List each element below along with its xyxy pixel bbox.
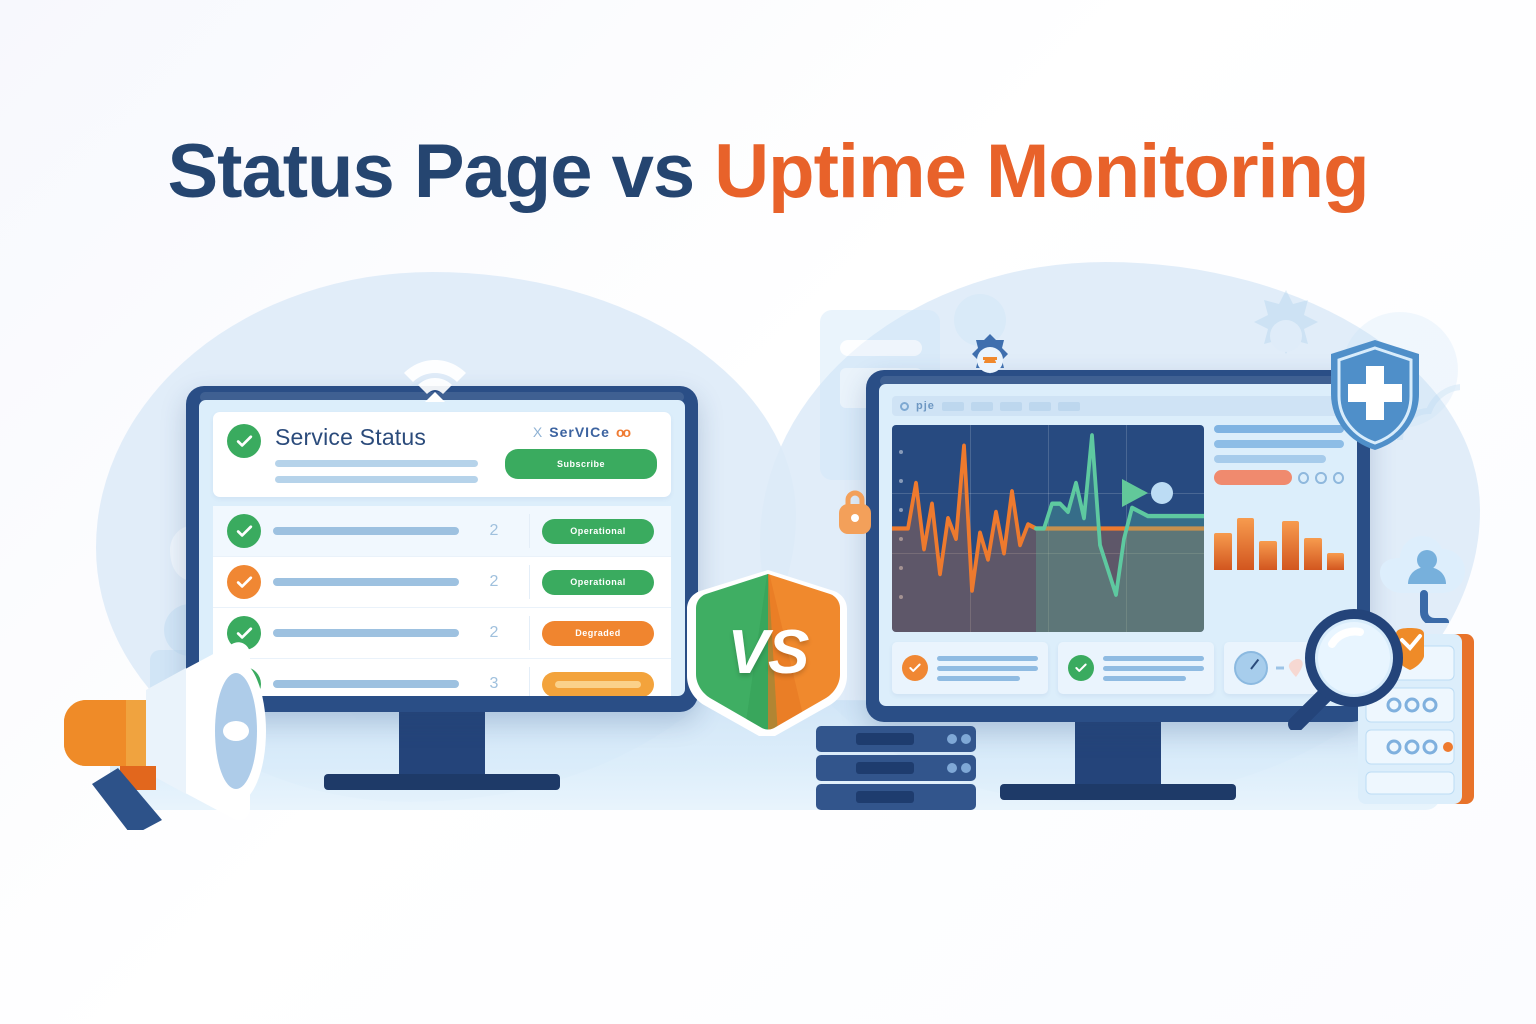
row-count: 2 (471, 624, 517, 642)
status-badge (542, 672, 654, 697)
circle-outline-icon (900, 402, 909, 411)
check-circle-green-icon (227, 514, 261, 548)
shield-cross-icon (1320, 336, 1430, 454)
uptime-line-chart (892, 425, 1204, 632)
brand-x: X (533, 424, 543, 440)
toolbar-segment (942, 402, 964, 411)
row-count: 2 (471, 573, 517, 591)
brand-text: SerVICe (549, 424, 610, 440)
check-circle-orange-icon (227, 565, 261, 599)
lock-icon (838, 490, 872, 536)
gauge-icon (1234, 651, 1268, 685)
monitor-base-left (324, 774, 560, 790)
ring-icon (1298, 472, 1309, 484)
monitoring-dashboard-screen: pje (879, 384, 1357, 706)
play-marker-icon (1118, 475, 1174, 511)
table-row[interactable]: 2 Operational (213, 506, 671, 557)
status-header-card: Service Status X SerVICe oo Subscribe (213, 412, 671, 497)
vs-label: VS (684, 568, 852, 736)
check-circle-green-icon (227, 424, 261, 458)
monitor-base-right (1000, 784, 1236, 800)
placeholder-bar (275, 476, 478, 483)
row-label-bar (273, 578, 459, 586)
row-count: 2 (471, 522, 517, 540)
dashboard-cards (892, 642, 1344, 694)
check-circle-orange-icon (902, 655, 928, 681)
toolbar-segment (1029, 402, 1051, 411)
side-chip-row (1214, 470, 1344, 485)
toolbar-segment (1000, 402, 1022, 411)
toolbar-label: pje (916, 400, 935, 412)
row-divider (529, 667, 530, 696)
server-stack-icon (812, 722, 990, 814)
megaphone-icon (60, 630, 330, 830)
row-divider (529, 565, 530, 599)
monitor-neck-right (1075, 722, 1161, 784)
table-row[interactable]: 2 Operational (213, 557, 671, 608)
mini-bar-chart (1214, 498, 1344, 570)
chart-series-paths (892, 425, 1204, 632)
ring-icon (1333, 472, 1344, 484)
toolbar-segment (1058, 402, 1080, 411)
page-title-primary: Status Page vs (167, 129, 714, 214)
dashboard-toolbar[interactable]: pje (892, 396, 1344, 416)
page-title: Status Page vs Uptime Monitoring (0, 128, 1536, 215)
brand-logo: X SerVICe oo (505, 424, 657, 440)
ring-icon (1315, 472, 1326, 484)
row-count: 3 (471, 675, 517, 693)
list-item[interactable] (1058, 642, 1214, 694)
service-status-title: Service Status (275, 424, 491, 451)
page-title-accent: Uptime Monitoring (714, 129, 1368, 214)
placeholder-bar (275, 460, 478, 467)
row-divider (529, 616, 530, 650)
alert-chip (1214, 470, 1292, 485)
wifi-icon (392, 336, 478, 402)
list-item[interactable] (892, 642, 1048, 694)
vs-badge: VS (684, 568, 852, 736)
check-circle-green-icon (1068, 655, 1094, 681)
network-node-icon (962, 332, 1018, 388)
status-badge: Operational (542, 519, 654, 544)
side-line (1214, 455, 1326, 463)
monitor-neck-left (399, 712, 485, 774)
magnifying-glass-icon (1288, 600, 1418, 730)
status-badge: Operational (542, 570, 654, 595)
toolbar-segment (971, 402, 993, 411)
row-divider (529, 514, 530, 548)
brand-suffix: oo (616, 424, 629, 440)
row-label-bar (273, 527, 459, 535)
status-badge: Degraded (542, 621, 654, 646)
subscribe-button[interactable]: Subscribe (505, 449, 657, 479)
